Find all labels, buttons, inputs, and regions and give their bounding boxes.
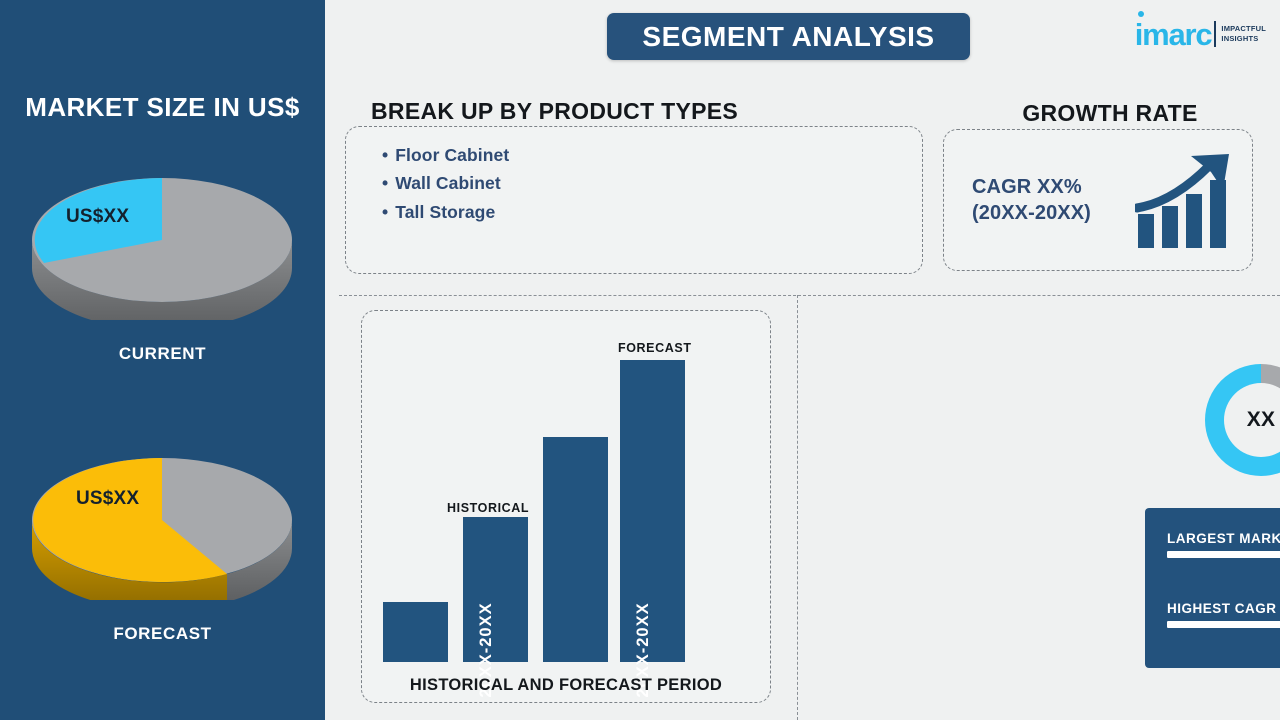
infographic-canvas: MARKET SIZE IN US$ US$XX CURRENT <box>0 0 1280 720</box>
forecast-pie-value: US$XX <box>76 488 139 510</box>
cagr-text: CAGR XX% (20XX-20XX) <box>972 174 1091 227</box>
forecast-pie-caption: FORECAST <box>0 624 325 644</box>
bar-1 <box>383 602 448 662</box>
logo-mark-text: imarc <box>1135 17 1212 52</box>
bar-3 <box>543 437 608 662</box>
current-pie-chart <box>31 160 293 320</box>
key-stats-panel: LARGEST MARKET XX HIGHEST CAGR XX% <box>1145 508 1280 668</box>
page-title-text: SEGMENT ANALYSIS <box>642 21 934 53</box>
market-share-donut: XX <box>1205 364 1280 476</box>
growth-arrow-bars-icon <box>1135 152 1240 254</box>
logo-tagline: IMPACTFUL INSIGHTS <box>1221 24 1266 44</box>
highest-cagr-progress-track <box>1167 621 1280 628</box>
list-item: Wall Cabinet <box>382 169 509 197</box>
current-pie-caption: CURRENT <box>0 344 325 364</box>
bar-chart: 20XX-20XX HISTORICAL 20XX-20XX FORECAST … <box>361 310 771 703</box>
market-share-donut-value: XX <box>1247 408 1275 432</box>
products-box: Floor Cabinet Wall Cabinet Tall Storage <box>345 126 923 274</box>
largest-market-stat: LARGEST MARKET XX <box>1167 530 1280 558</box>
vertical-divider <box>797 295 798 720</box>
forecast-label: FORECAST <box>618 341 692 355</box>
market-share-donut-center: XX <box>1224 383 1280 457</box>
bar-2: 20XX-20XX <box>463 517 528 662</box>
products-heading: BREAK UP BY PRODUCT TYPES <box>371 98 738 125</box>
largest-market-label: LARGEST MARKET <box>1167 531 1280 546</box>
page-title: SEGMENT ANALYSIS <box>607 13 970 60</box>
logo-tagline-line1: IMPACTFUL <box>1221 24 1266 34</box>
forecast-pie-chart <box>31 440 293 600</box>
cagr-value: CAGR XX% <box>972 174 1091 200</box>
highest-cagr-label: HIGHEST CAGR <box>1167 601 1277 616</box>
logo-dot-icon <box>1138 11 1144 17</box>
cagr-period: (20XX-20XX) <box>972 200 1091 226</box>
largest-market-progress-track <box>1167 551 1280 558</box>
horizontal-divider <box>339 295 1280 296</box>
list-item: Tall Storage <box>382 198 509 226</box>
largest-market-progress-fill <box>1167 551 1280 558</box>
bar-chart-caption: HISTORICAL AND FORECAST PERIOD <box>361 676 771 695</box>
logo-divider <box>1214 21 1216 47</box>
logo-tagline-line2: INSIGHTS <box>1221 34 1266 44</box>
market-size-title: MARKET SIZE IN US$ <box>0 92 325 123</box>
growth-heading: GROWTH RATE <box>945 100 1275 127</box>
growth-box: CAGR XX% (20XX-20XX) <box>943 129 1253 271</box>
forecast-pie-block: US$XX FORECAST <box>0 430 325 644</box>
highest-cagr-stat: HIGHEST CAGR XX% <box>1167 600 1280 628</box>
highest-cagr-progress-fill <box>1167 621 1280 628</box>
bar-4: 20XX-20XX <box>620 360 685 662</box>
logo-wordmark: imarc <box>1135 19 1212 50</box>
imarc-logo: imarc IMPACTFUL INSIGHTS <box>1135 16 1266 52</box>
market-size-panel: MARKET SIZE IN US$ US$XX CURRENT <box>0 0 325 720</box>
current-pie-value: US$XX <box>66 206 129 228</box>
historical-label: HISTORICAL <box>447 501 529 515</box>
main-content: SEGMENT ANALYSIS imarc IMPACTFUL INSIGHT… <box>325 0 1280 720</box>
list-item: Floor Cabinet <box>382 141 509 169</box>
current-pie-block: US$XX CURRENT <box>0 150 325 364</box>
product-type-list: Floor Cabinet Wall Cabinet Tall Storage <box>382 141 509 226</box>
